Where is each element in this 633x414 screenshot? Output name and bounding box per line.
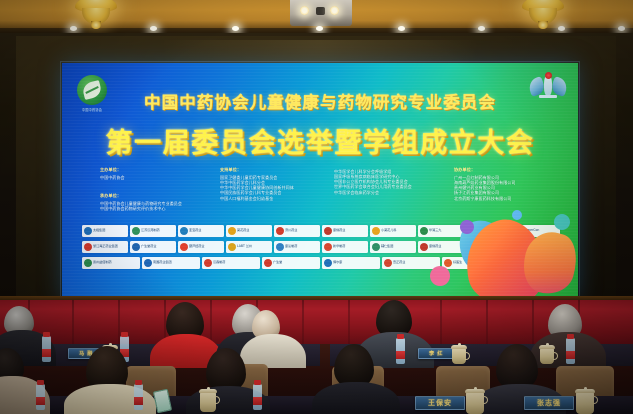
sponsor-logo-mark xyxy=(264,259,272,267)
sponsor-logo-label: 小葵花儿科 xyxy=(381,229,396,232)
tea-mug xyxy=(200,392,216,412)
sponsor-logo-label: 葵花药业 xyxy=(237,229,249,232)
credits-line: 中华医学会临床药学分会 xyxy=(334,190,452,195)
sponsor-logo: 博尔康 xyxy=(322,257,380,269)
sponsor-logo: 浙江海正药业集团 xyxy=(82,241,128,253)
ceiling-spotlight xyxy=(478,26,485,31)
credits-line: 中国中药协会药物研究评价技术中心 xyxy=(100,206,250,211)
sponsor-logo-mark xyxy=(372,227,380,235)
sponsor-logo: 江苏汉邦制药 xyxy=(130,225,176,237)
credits-column-support-a: 支持单位： 国家卫健委儿童用药专家委员会 中华中医药学会儿科分会 中华中医药学会… xyxy=(220,167,332,201)
water-bottle xyxy=(42,336,51,362)
audience-person-body xyxy=(240,334,306,368)
sponsor-logo-label: 博尔康 xyxy=(333,261,342,264)
sponsor-logo-mark xyxy=(180,243,188,251)
credits-line: 北京药斯宁康医药科技有限公司 xyxy=(454,196,572,201)
water-bottle xyxy=(566,338,575,364)
sponsor-logo-label: 新华制药 xyxy=(333,245,345,248)
nameplate-back-right: 李 红 xyxy=(418,348,454,359)
sponsor-logo-label: 奇正药业 xyxy=(393,261,405,264)
sponsor-logo: 小葵花儿科 xyxy=(370,225,416,237)
nameplate-text: 李 红 xyxy=(429,350,443,357)
sponsor-logo: 新华制药 xyxy=(322,241,368,253)
sponsor-logo-mark xyxy=(228,243,236,251)
sponsor-logo: 广生堂药业 xyxy=(130,241,176,253)
sponsor-logo-mark xyxy=(180,227,188,235)
sponsor-logo-mark xyxy=(420,227,428,235)
sponsor-logo-mark xyxy=(144,259,152,267)
audience-person-body xyxy=(312,382,400,414)
sponsor-logo-mark xyxy=(204,259,212,267)
sponsor-logo-label: 广生堂药业 xyxy=(141,245,156,248)
tea-mug xyxy=(466,392,484,414)
ceiling-spotlight xyxy=(618,26,625,31)
sponsor-logo-label: 汉森制药 xyxy=(213,261,225,264)
ceiling-spotlight xyxy=(316,26,323,31)
water-bottle xyxy=(253,384,262,410)
sponsor-logo-mark xyxy=(324,259,332,267)
sponsor-logo: 康缘药业 xyxy=(322,225,368,237)
ceiling-spotlight xyxy=(398,26,405,31)
sponsor-logo: 广生堂 xyxy=(262,257,320,269)
sponsor-logo: 辅仁集团 xyxy=(370,241,416,253)
crystal-chandelier-right xyxy=(522,0,564,30)
sponsor-logo-label: 济川药业 xyxy=(285,229,297,232)
audience-area: 马 融 李 红 xyxy=(0,300,633,414)
screenshot-root: 中国中药协会 中国中药协会儿童健康与药物研究专业委员会 第一届委员会选举暨学组成… xyxy=(0,0,633,414)
sponsor-logo: 亚宝药业 xyxy=(178,225,224,237)
sponsor-logo-label: LABT 兰州 xyxy=(237,245,252,248)
sponsor-logo: 太极集团 xyxy=(82,225,128,237)
ceiling-spotlight xyxy=(558,26,565,31)
sponsor-logo-mark xyxy=(276,243,284,251)
sponsor-logo: 南国药业集团 xyxy=(142,257,200,269)
ceiling-projector xyxy=(290,0,352,26)
sponsor-logo-mark xyxy=(372,243,380,251)
sponsor-logo-mark xyxy=(324,243,332,251)
sponsor-logo-label: 亚宝药业 xyxy=(189,229,201,232)
sponsor-logo-mark xyxy=(84,243,92,251)
sponsor-logo: 贵州益佰制药 xyxy=(82,257,140,269)
sponsor-logo-label: 南国药业集团 xyxy=(153,261,172,264)
water-bottle xyxy=(36,384,45,410)
sponsor-logo-mark xyxy=(384,259,392,267)
nameplate-text: 张志强 xyxy=(537,398,561,408)
ceiling-spotlight xyxy=(232,26,239,31)
sponsor-logo: 济川药业 xyxy=(274,225,320,237)
sponsor-logo-label: 江苏汉邦制药 xyxy=(141,229,160,232)
sponsor-logo-label: 葫芦娃药业 xyxy=(189,245,204,248)
credits-column-support-b: 中华医学会儿科学分会呼吸学组 国家呼吸系统疾病临床医学研究中心 中国非公立医疗机… xyxy=(334,167,452,195)
nameplate-front-zhang: 张志强 xyxy=(524,396,574,410)
sponsor-logo: 汉森制药 xyxy=(202,257,260,269)
sponsor-logo-label: 康缘药业 xyxy=(333,229,345,232)
banner-title-line1: 中国中药协会儿童健康与药物研究专业委员会 xyxy=(62,89,578,113)
ceiling-spotlight xyxy=(150,26,157,31)
sponsor-logo-label: 广生堂 xyxy=(273,261,282,264)
sponsor-logo-label: 贵州益佰制药 xyxy=(93,261,112,264)
sponsor-logo: 康弘制药 xyxy=(274,241,320,253)
nameplate-front-wang: 王保安 xyxy=(415,396,465,410)
banner-title-line2: 第一届委员会选举暨学组成立大会 xyxy=(62,121,578,160)
credits-column-cosponsor: 协办单位： 广州一品红制药有限公司 海南葫芦娃药业集团股份有限公司 贵州健兴药业… xyxy=(454,167,572,201)
sponsor-logo-mark xyxy=(84,259,92,267)
credits-line: 中国中药协会 xyxy=(100,175,230,180)
sponsor-logo: 葫芦娃药业 xyxy=(178,241,224,253)
sponsor-logo-mark xyxy=(132,227,140,235)
credits-line: 中国人口福利基金会妇幼基金 xyxy=(220,196,332,201)
sponsor-logo-mark xyxy=(276,227,284,235)
sponsor-logo: LABT 兰州 xyxy=(226,241,272,253)
sponsor-logo-label: 太极集团 xyxy=(93,229,105,232)
tea-mug xyxy=(576,392,594,414)
abstract-figures-decoration xyxy=(428,208,578,300)
water-bottle xyxy=(134,384,143,410)
sponsor-logo-mark xyxy=(228,227,236,235)
sponsor-logo-mark xyxy=(84,227,92,235)
credits-column-organizer: 主办单位： 中国中药协会 xyxy=(100,167,230,180)
ceiling-spotlight xyxy=(70,26,77,31)
crystal-chandelier-left xyxy=(75,0,117,30)
sponsor-logo-mark xyxy=(420,243,428,251)
credits-heading: 主办单位： xyxy=(100,167,230,173)
credits-heading: 支持单位： xyxy=(220,167,332,173)
tea-mug xyxy=(540,348,554,364)
sponsor-logo-label: 浙江海正药业集团 xyxy=(93,245,118,248)
sponsor-logo-mark xyxy=(132,243,140,251)
water-bottle xyxy=(396,338,405,364)
sponsor-logo-label: 康弘制药 xyxy=(285,245,297,248)
nameplate-text: 王保安 xyxy=(428,398,452,408)
credits-heading: 协办单位： xyxy=(454,167,572,173)
sponsor-logo-label: 辅仁集团 xyxy=(381,245,393,248)
sponsor-logo: 葵花药业 xyxy=(226,225,272,237)
tea-mug xyxy=(452,348,466,364)
sponsor-logo-mark xyxy=(324,227,332,235)
led-screen: 中国中药协会 中国中药协会儿童健康与药物研究专业委员会 第一届委员会选举暨学组成… xyxy=(62,63,578,300)
